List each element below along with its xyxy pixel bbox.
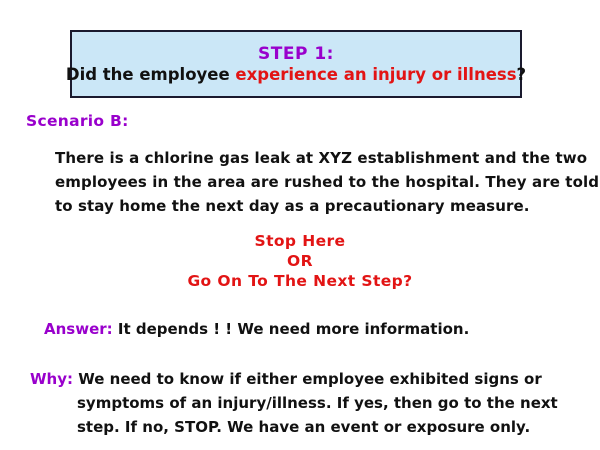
step-question: Did the employee experience an injury or…	[66, 66, 526, 85]
prompt-line-or: OR	[0, 251, 600, 271]
scenario-body-line: employees in the area are rushed to the …	[55, 170, 555, 194]
step-question-prefix: Did the employee	[66, 65, 236, 84]
prompt-line-stop-here: Stop Here	[0, 231, 600, 251]
decision-prompt: Stop Here OR Go On To The Next Step?	[0, 231, 600, 291]
step-title: STEP 1:	[258, 45, 334, 64]
step-question-suffix: ?	[517, 65, 527, 84]
why-label: Why:	[30, 370, 73, 388]
slide-canvas: STEP 1: Did the employee experience an i…	[0, 0, 600, 450]
scenario-label: Scenario B:	[26, 112, 129, 130]
scenario-body: There is a chlorine gas leak at XYZ esta…	[55, 146, 555, 218]
scenario-body-line: to stay home the next day as a precautio…	[55, 194, 555, 218]
why-first-line: Why: We need to know if either employee …	[30, 367, 575, 391]
why-text-line: symptoms of an injury/illness. If yes, t…	[30, 391, 575, 415]
answer-label: Answer:	[44, 320, 113, 338]
why-text-line: We need to know if either employee exhib…	[73, 370, 542, 388]
answer-text: It depends ! ! We need more information.	[113, 320, 470, 338]
scenario-body-line: There is a chlorine gas leak at XYZ esta…	[55, 146, 555, 170]
answer-row: Answer: It depends ! ! We need more info…	[44, 318, 469, 340]
why-block: Why: We need to know if either employee …	[30, 367, 575, 439]
prompt-line-next-step: Go On To The Next Step?	[0, 271, 600, 291]
step-question-highlight: experience an injury or illness	[235, 65, 516, 84]
why-text-line: step. If no, STOP. We have an event or e…	[30, 415, 575, 439]
step-header-box: STEP 1: Did the employee experience an i…	[70, 30, 522, 98]
